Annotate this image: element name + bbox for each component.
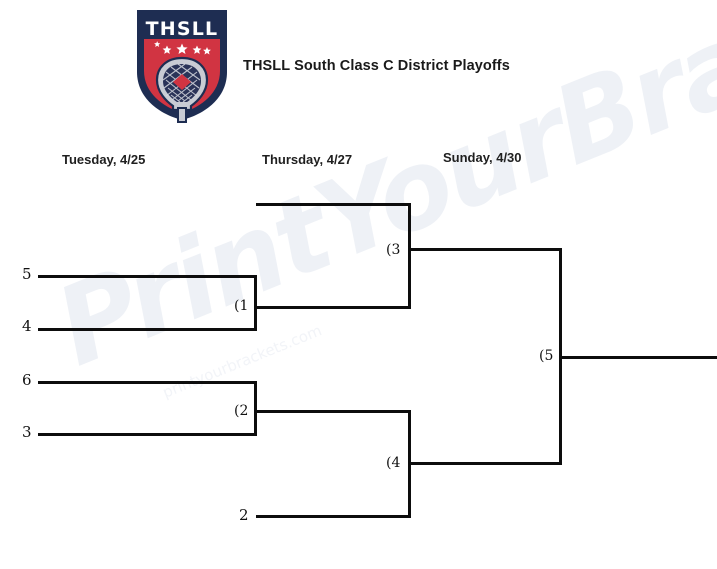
slot-line-seed-3	[38, 433, 257, 436]
slot-line-game-3-winner	[410, 248, 562, 251]
round-header-1: Tuesday, 4/25	[62, 152, 145, 167]
slot-line-seed-2-bye	[256, 515, 411, 518]
bracket-connector-game-3	[408, 203, 411, 309]
champion-line	[561, 356, 717, 359]
seed-label-2: 2	[239, 506, 249, 524]
seed-label-3: 3	[22, 423, 32, 441]
bracket-connector-game-2	[254, 381, 257, 436]
game-number-4: (4	[386, 455, 400, 471]
watermark: PrintYourBrackets printyourbrackets.com	[40, 215, 717, 545]
bracket-connector-game-1	[254, 275, 257, 331]
slot-line-game-2-winner	[256, 410, 411, 413]
thsll-shield-logo: THSLL	[133, 6, 231, 124]
game-number-5: (5	[539, 348, 553, 364]
game-number-2: (2	[234, 403, 248, 419]
slot-line-seed-6	[38, 381, 257, 384]
slot-line-seed-4	[38, 328, 257, 331]
slot-line-seed-1-bye	[256, 203, 411, 206]
bracket-page: PrintYourBrackets printyourbrackets.com …	[0, 0, 717, 569]
game-number-1: (1	[234, 298, 248, 314]
svg-text:THSLL: THSLL	[146, 18, 219, 40]
game-number-3: (3	[386, 242, 400, 258]
seed-label-6: 6	[22, 371, 32, 389]
seed-label-4: 4	[22, 317, 32, 335]
watermark-subtext: printyourbrackets.com	[160, 321, 324, 401]
round-header-2: Thursday, 4/27	[262, 152, 352, 167]
page-title: THSLL South Class C District Playoffs	[243, 58, 510, 74]
slot-line-game-4-winner	[410, 462, 562, 465]
seed-label-5: 5	[22, 265, 32, 283]
slot-line-seed-5	[38, 275, 257, 278]
slot-line-game-1-winner	[256, 306, 411, 309]
round-header-3: Sunday, 4/30	[443, 150, 522, 165]
